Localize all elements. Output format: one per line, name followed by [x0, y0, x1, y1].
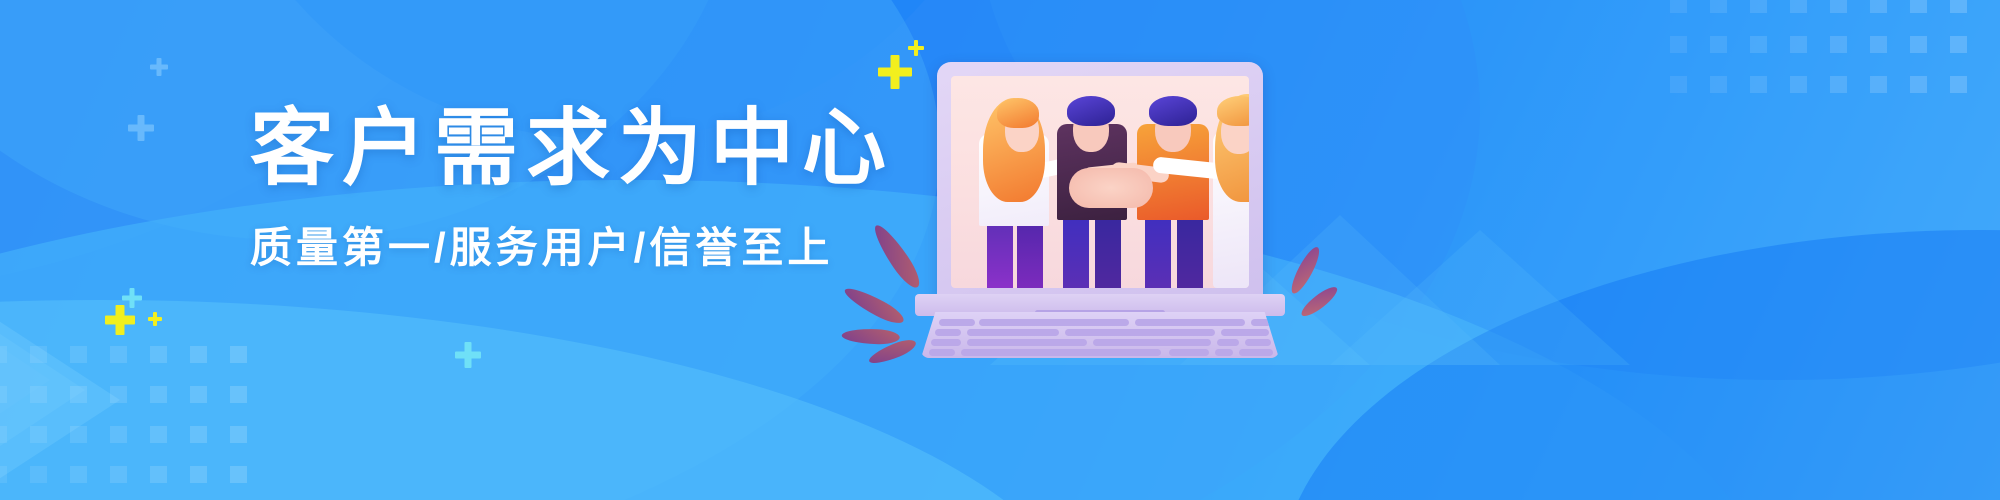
grid-dot — [1670, 76, 1687, 93]
grid-dot — [190, 386, 207, 403]
cross-white-mid-icon — [128, 115, 154, 141]
person-woman-left — [967, 82, 1059, 288]
grid-dot — [1790, 76, 1807, 93]
keyboard-key — [931, 339, 961, 346]
cross-cyan-mid-icon — [455, 342, 481, 368]
laptop-keyboard — [921, 312, 1279, 358]
keyboard-key — [935, 329, 961, 336]
keyboard-key — [1135, 319, 1245, 326]
grid-dot — [1670, 36, 1687, 53]
keyboard-key — [1221, 329, 1269, 336]
grid-dot — [150, 466, 167, 483]
laptop-lid — [937, 62, 1263, 298]
stacked-hands — [1069, 168, 1153, 208]
leaf-decoration — [841, 283, 907, 328]
grid-dot — [1750, 0, 1767, 13]
grid-dot — [1750, 76, 1767, 93]
grid-dot — [1950, 76, 1967, 93]
dot-grid-top-right — [1670, 0, 2000, 116]
grid-dot — [1790, 36, 1807, 53]
page-title: 客户需求为中心 — [250, 104, 870, 192]
grid-dot — [230, 386, 247, 403]
grid-dot — [1870, 0, 1887, 13]
grid-dot — [190, 466, 207, 483]
grid-dot — [190, 426, 207, 443]
keyboard-key — [939, 319, 975, 326]
keyboard-key — [1239, 349, 1273, 356]
laptop-illustration — [915, 62, 1285, 352]
grid-dot — [1710, 0, 1727, 13]
grid-dot — [1830, 36, 1847, 53]
grid-dot — [150, 426, 167, 443]
cross-yellow-small-icon — [908, 40, 924, 56]
keyboard-key — [929, 349, 955, 356]
cross-yellow-bottom-icon — [105, 305, 135, 335]
chevron-decoration — [0, 250, 120, 500]
grid-dot — [190, 346, 207, 363]
grid-dot — [1910, 76, 1927, 93]
cross-cyan-left-icon — [122, 288, 142, 308]
grid-dot — [1910, 36, 1927, 53]
person-woman-right — [1199, 82, 1249, 288]
grid-dot — [230, 346, 247, 363]
page-subtitle: 质量第一/服务用户/信誉至上 — [250, 214, 870, 275]
keyboard-key — [1251, 319, 1271, 326]
grid-dot — [1950, 36, 1967, 53]
keyboard-key — [1215, 349, 1233, 356]
keyboard-key — [1217, 339, 1239, 346]
grid-dot — [1870, 36, 1887, 53]
grid-dot — [1950, 0, 1967, 13]
keyboard-key — [961, 349, 1161, 356]
keyboard-key — [967, 329, 1059, 336]
grid-dot — [230, 466, 247, 483]
grid-dot — [150, 386, 167, 403]
keyboard-key — [979, 319, 1129, 326]
grid-dot — [1790, 0, 1807, 13]
promo-banner: 客户需求为中心 质量第一/服务用户/信誉至上 — [0, 0, 2000, 500]
grid-dot — [1870, 76, 1887, 93]
grid-dot — [230, 426, 247, 443]
keyboard-key — [1065, 329, 1215, 336]
keyboard-key — [1245, 339, 1271, 346]
grid-dot — [1830, 76, 1847, 93]
keyboard-key — [967, 339, 1087, 346]
keyboard-key — [1169, 349, 1209, 356]
grid-dot — [1670, 0, 1687, 13]
mountain-decoration — [1330, 230, 1630, 365]
grid-dot — [1910, 0, 1927, 13]
cross-yellow-large-icon — [878, 55, 912, 89]
grid-dot — [150, 346, 167, 363]
cross-yellow-bottom-small-icon — [148, 312, 162, 326]
laptop-screen — [951, 76, 1249, 288]
banner-text-block: 客户需求为中心 质量第一/服务用户/信誉至上 — [250, 104, 870, 275]
grid-dot — [1830, 0, 1847, 13]
leaf-decoration — [842, 328, 900, 345]
leaf-decoration — [869, 221, 925, 292]
grid-dot — [1710, 76, 1727, 93]
keyboard-key — [1093, 339, 1211, 346]
grid-dot — [1710, 36, 1727, 53]
cross-white-upper-icon — [150, 58, 168, 76]
grid-dot — [1750, 36, 1767, 53]
